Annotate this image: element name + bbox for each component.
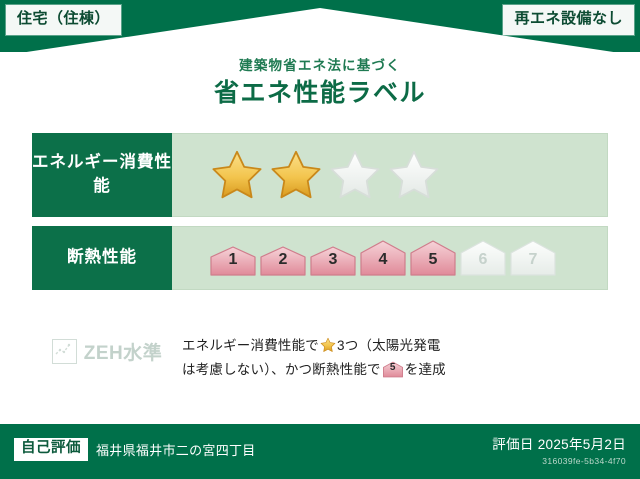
house-rating: 1 2 3 bbox=[172, 226, 608, 290]
title-subtitle: 建築物省エネ法に基づく bbox=[0, 58, 640, 74]
title-main: 省エネ性能ラベル bbox=[0, 79, 640, 108]
footer-left: 自己評価 福井県福井市二の宮四丁目 bbox=[14, 438, 256, 461]
badge-self-evaluation: 自己評価 bbox=[14, 438, 88, 461]
achievement-description: エネルギー消費性能で 3つ（太陽光発電 は考慮しない）、かつ断熱性能で 5 を達… bbox=[182, 330, 608, 381]
star-icon-empty-3 bbox=[328, 148, 382, 202]
house-badge-7: 7 bbox=[510, 240, 556, 276]
evaluation-date: 評価日 2025年5月2日 bbox=[492, 433, 626, 453]
zeh-info-section: ZEH水準 エネルギー消費性能で 3つ（太陽光発電 は考慮しない）、かつ断熱性能… bbox=[32, 330, 608, 381]
inline-house-label: 5 bbox=[383, 359, 403, 377]
desc-line1-post: 3つ（太陽光発電 bbox=[337, 338, 441, 353]
star-icon-empty-4 bbox=[387, 148, 441, 202]
desc-line2-pre: は考慮しない）、かつ断熱性能で bbox=[182, 362, 381, 377]
inline-house-badge: 5 bbox=[383, 361, 403, 378]
row-label-energy-consumption: エネルギー消費性能 bbox=[32, 133, 172, 217]
footer-right: 評価日 2025年5月2日 316039fe-5b34-4f70 bbox=[492, 433, 626, 466]
energy-performance-label: 住宅（住棟） 再エネ設備なし 建築物省エネ法に基づく 省エネ性能ラベル エネルギ… bbox=[0, 0, 640, 479]
house-badge-5: 5 bbox=[410, 240, 456, 276]
row-energy-consumption: エネルギー消費性能 bbox=[32, 133, 608, 217]
zeh-chart-icon bbox=[52, 339, 77, 364]
zeh-label: ZEH水準 bbox=[84, 338, 163, 365]
desc-line2-post: を達成 bbox=[405, 362, 446, 377]
star-icon-filled-1 bbox=[210, 148, 264, 202]
row-insulation: 断熱性能 1 2 bbox=[32, 226, 608, 290]
label-footer: 自己評価 福井県福井市二の宮四丁目 評価日 2025年5月2日 316039fe… bbox=[0, 424, 640, 479]
document-id: 316039fe-5b34-4f70 bbox=[492, 456, 626, 466]
rating-rows: エネルギー消費性能 bbox=[32, 133, 608, 290]
house-badge-6: 6 bbox=[460, 240, 506, 276]
house-badge-4: 4 bbox=[360, 240, 406, 276]
row-label-insulation: 断熱性能 bbox=[32, 226, 172, 290]
desc-line1-pre: エネルギー消費性能で bbox=[182, 338, 319, 353]
title-block: 建築物省エネ法に基づく 省エネ性能ラベル bbox=[0, 58, 640, 108]
house-badge-3: 3 bbox=[310, 246, 356, 276]
house-badge-1: 1 bbox=[210, 246, 256, 276]
inline-star-icon bbox=[320, 337, 336, 353]
badge-renewable-energy: 再エネ設備なし bbox=[503, 5, 634, 35]
house-badge-2: 2 bbox=[260, 246, 306, 276]
house-strip: 1 2 3 bbox=[210, 240, 556, 276]
star-icon-filled-2 bbox=[269, 148, 323, 202]
badge-building-type: 住宅（住棟） bbox=[6, 5, 121, 35]
property-address: 福井県福井市二の宮四丁目 bbox=[96, 440, 256, 459]
star-rating bbox=[172, 133, 608, 217]
zeh-indicator: ZEH水準 bbox=[32, 330, 182, 365]
